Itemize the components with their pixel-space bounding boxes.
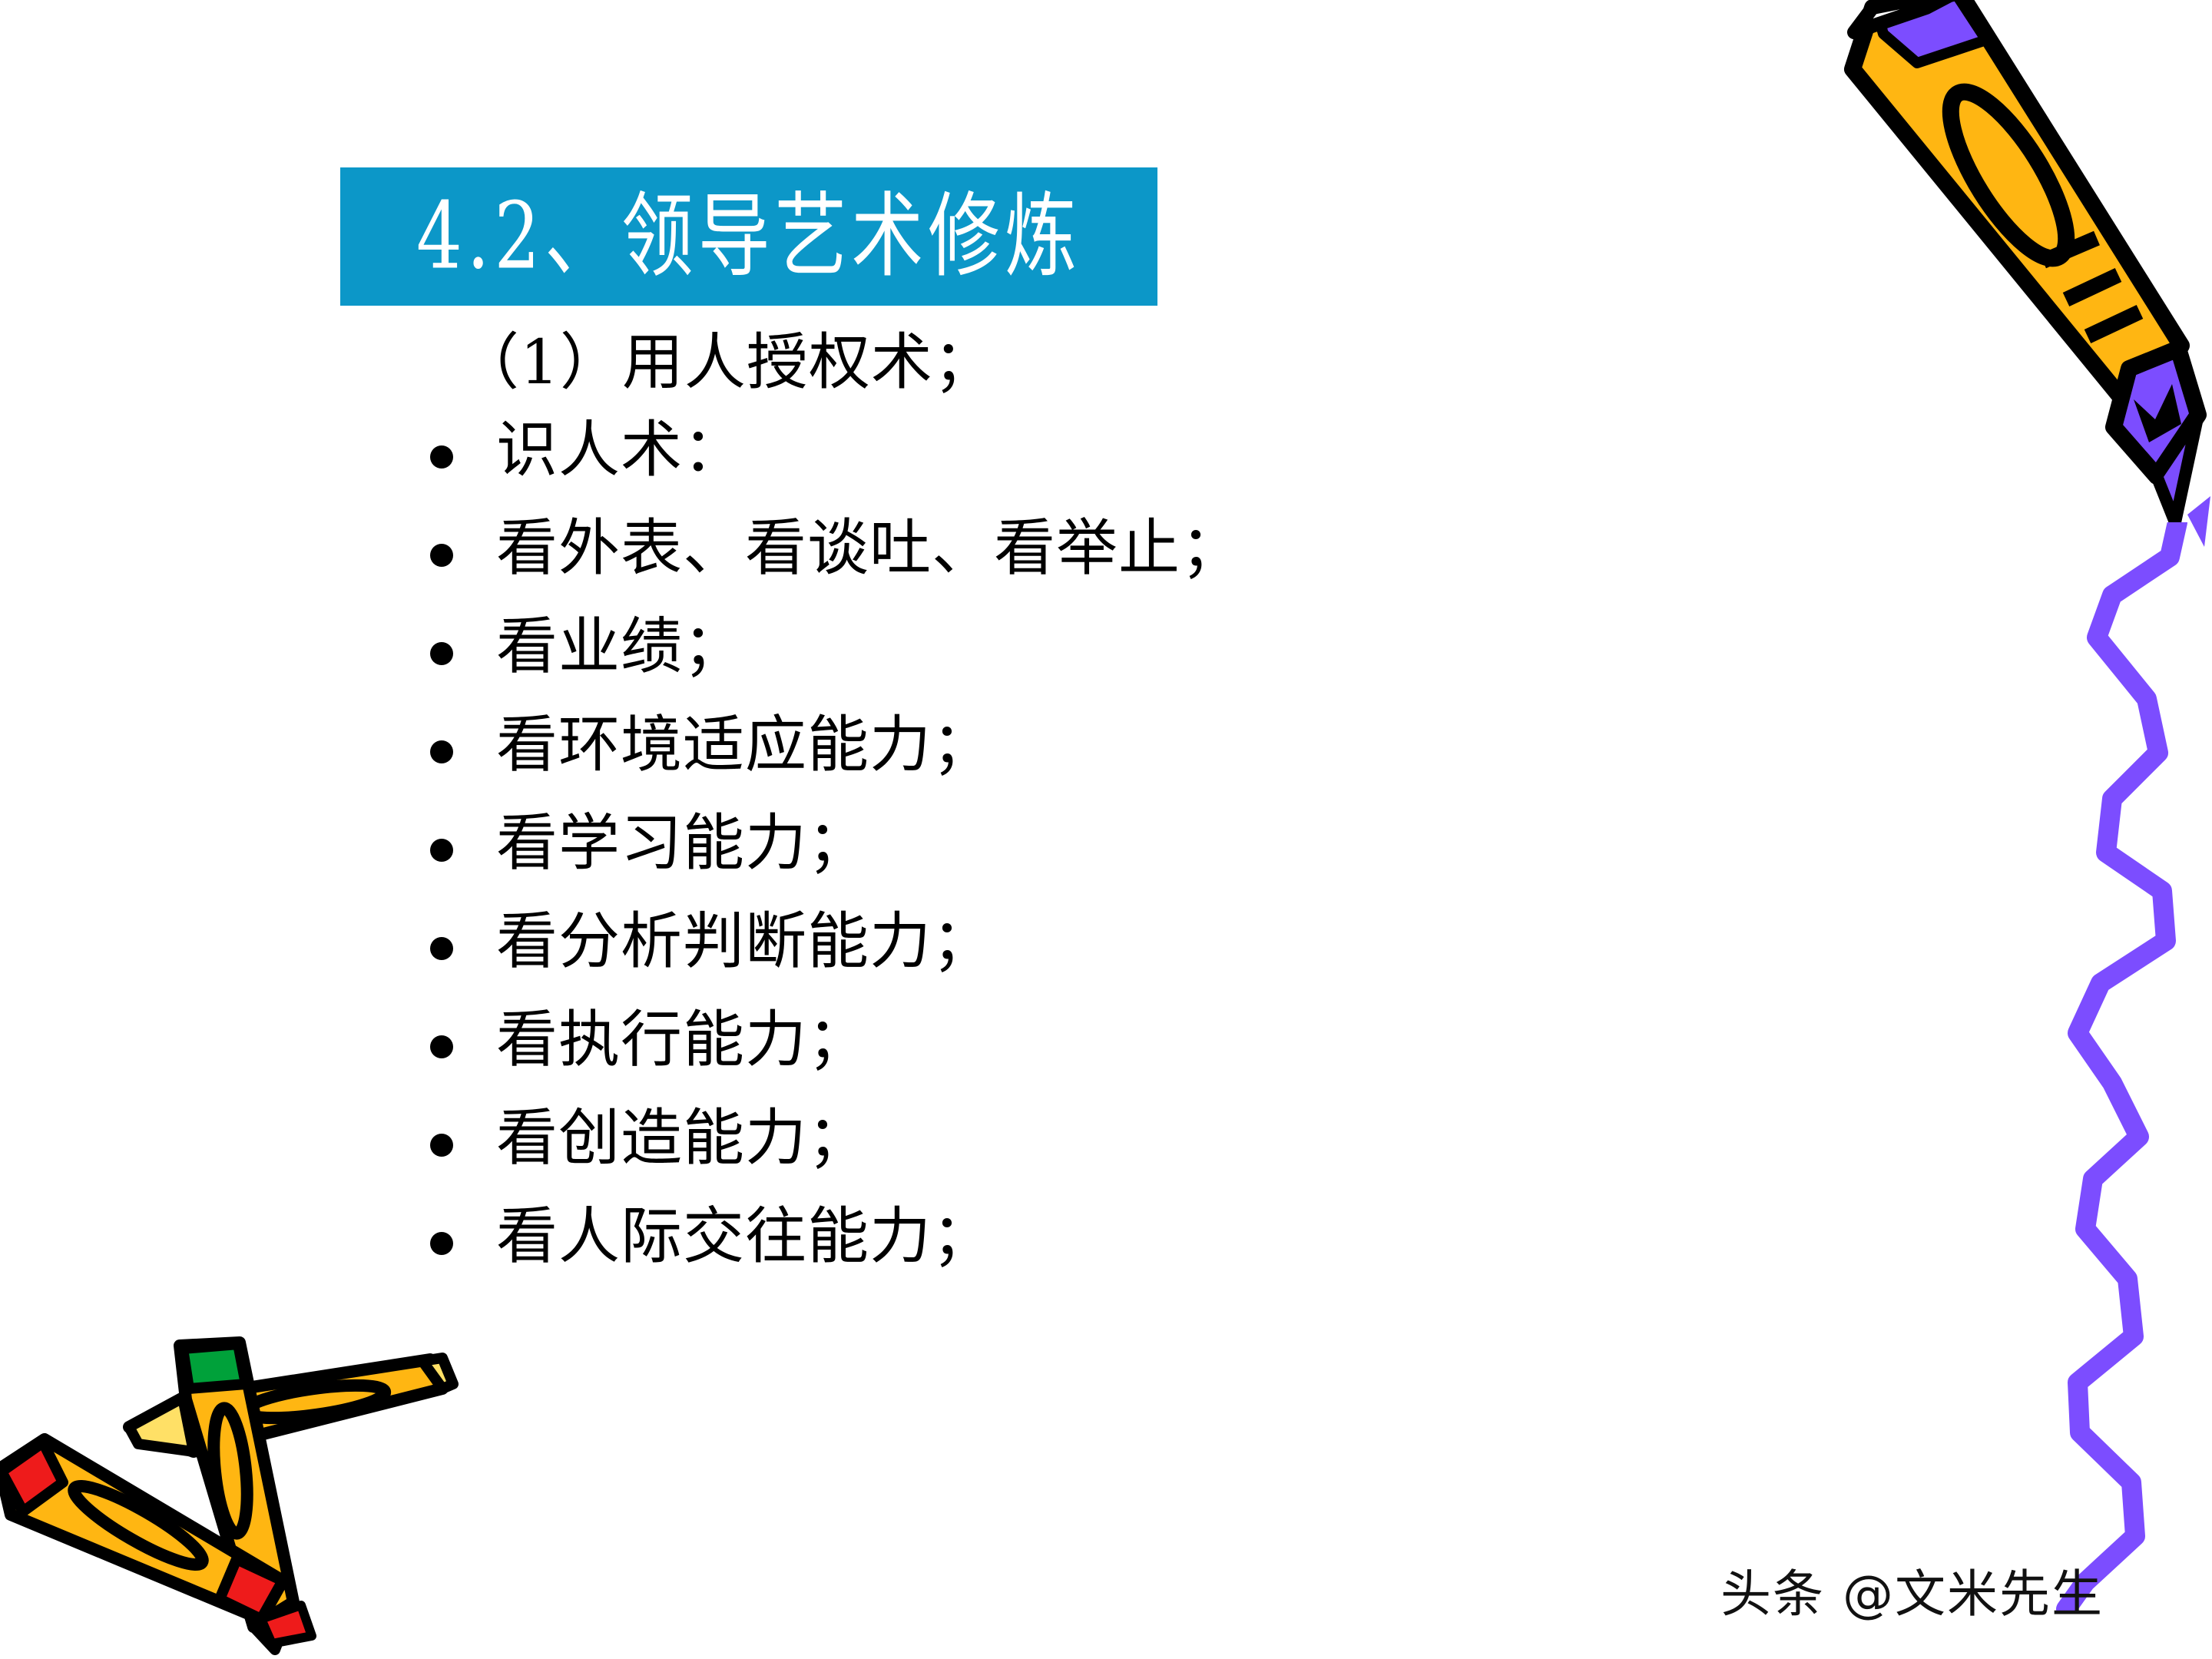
list-item: 看业绩；	[430, 616, 1736, 714]
watermark: 头条 @文米先生	[1720, 1553, 2104, 1627]
list-item: 看执行能力；	[430, 1009, 1736, 1108]
bullet-dot-icon	[430, 544, 453, 567]
intro-line: （1）用人授权术；	[430, 332, 1736, 393]
list-item-label: 看创造能力；	[496, 1108, 869, 1169]
bullet-dot-icon	[430, 937, 453, 960]
list-item-label: 识人术：	[496, 419, 745, 481]
list-item: 看创造能力；	[430, 1108, 1736, 1206]
bullet-dot-icon	[430, 1232, 453, 1255]
list-item-label: 看执行能力；	[496, 1009, 869, 1071]
bullet-dot-icon	[430, 1134, 453, 1157]
slide-body: （1）用人授权术； 识人术： 看外表、看谈吐、看举止； 看业绩； 看环境适应能力…	[430, 332, 1736, 1304]
list-item-label: 看学习能力；	[496, 813, 869, 874]
list-item: 看人际交往能力；	[430, 1206, 1736, 1304]
list-item-label: 看人际交往能力；	[496, 1206, 994, 1267]
list-item: 看环境适应能力；	[430, 714, 1736, 813]
list-item-label: 看分析判断能力；	[496, 911, 994, 972]
bullet-dot-icon	[430, 1035, 453, 1058]
list-item: 识人术：	[430, 419, 1736, 518]
list-item-label: 看业绩；	[496, 616, 745, 677]
slide-title-banner: 4.2、领导艺术修炼	[340, 167, 1157, 306]
purple-squiggle-line-icon	[2020, 522, 2212, 1613]
bullet-dot-icon	[430, 839, 453, 862]
bullet-dot-icon	[430, 740, 453, 763]
page-title: 4.2、领导艺术修炼	[416, 190, 1081, 283]
list-item: 看学习能力；	[430, 813, 1736, 911]
crossed-crayons-icon	[0, 1298, 484, 1659]
list-item: 看分析判断能力；	[430, 911, 1736, 1009]
bullet-dot-icon	[430, 642, 453, 665]
list-item-label: 看环境适应能力；	[496, 714, 994, 776]
bullet-dot-icon	[430, 445, 453, 469]
list-item: 看外表、看谈吐、看举止；	[430, 518, 1736, 616]
list-item-label: 看外表、看谈吐、看举止；	[496, 518, 1243, 579]
crayon-purple-tip-icon	[1843, 0, 2212, 568]
slide-canvas: 4.2、领导艺术修炼 （1）用人授权术； 识人术： 看外表、看谈吐、看举止； 看…	[0, 0, 2212, 1659]
